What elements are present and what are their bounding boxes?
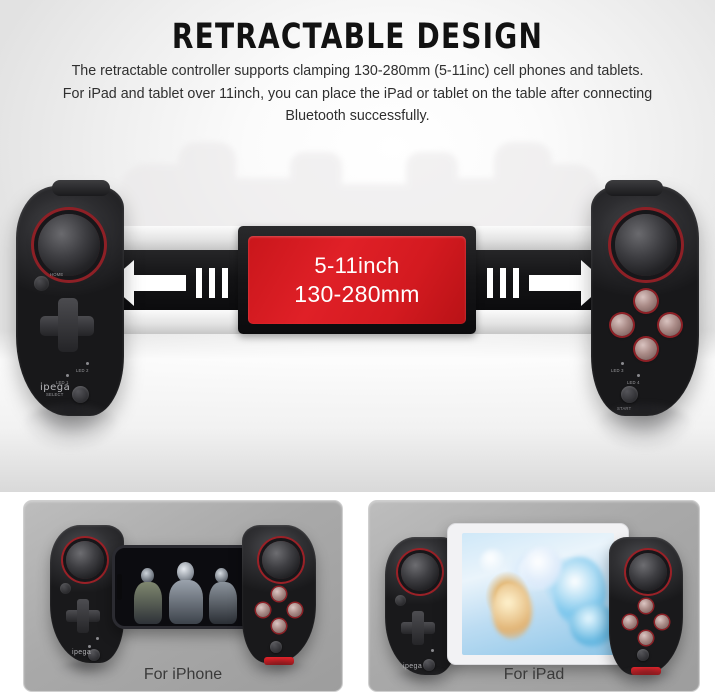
mini-led-dot-b [88,645,91,648]
arrow-left-dashes [196,268,228,298]
measurement-mm: 130-280mm [294,280,419,309]
mini-start-button-ipad [637,649,649,661]
start-button [621,386,638,403]
mini-right-stick-ipad [629,553,667,591]
led4-label: LED 4 [627,380,640,385]
subtitle-line-1: The retractable controller supports clam… [50,60,666,83]
mini-left-stick-ipad [401,553,439,591]
mini-action-buttons-ipad [621,599,671,647]
action-buttons [607,290,685,366]
mini-dpad [66,599,100,633]
led2-dot [86,362,89,365]
home-label: HOME [50,272,63,277]
dpad [40,298,94,352]
left-grip-reflection [22,404,118,450]
caption-for-ipad: For iPad [369,666,699,684]
iphone-device [112,545,258,629]
measurement-label: 5-11inch 130-280mm [248,236,466,324]
left-shoulder-button [52,180,110,196]
panel-for-ipad: ipega [368,500,700,692]
mini-right-grip-iphone [242,525,316,663]
controller-left-grip: HOME LED 2 LED 1 SELECT ipega [16,186,124,416]
right-grip-reflection [597,404,693,450]
caption-for-iphone: For iPhone [24,666,342,684]
subtitle-line-2: For iPad and tablet over 11inch, you can… [50,83,666,106]
mini-dpad-ipad [401,611,435,645]
home-button [34,276,49,291]
mini-brand-iphone: ipega [72,649,91,656]
page-subtitle: The retractable controller supports clam… [50,60,666,128]
mini-action-buttons [254,587,304,635]
mini-home-button-ipad [395,595,406,606]
mini-home-button [60,583,71,594]
right-analog-stick [615,214,677,276]
iphone-notch [117,574,122,600]
arrow-left-shaft [134,275,186,291]
mini-left-stick [66,541,104,579]
mini-led-dot-a-ipad [431,649,434,652]
page-title: RETRACTABLE DESIGN [72,18,644,56]
game-art-shooter [115,548,255,626]
select-button [72,386,89,403]
led1-dot [66,374,69,377]
arrow-right-shaft [529,275,581,291]
ipad-screen [462,533,614,655]
led3-dot [621,362,624,365]
mini-led-dot-a [96,637,99,640]
product-infographic: RETRACTABLE DESIGN The retractable contr… [0,0,715,699]
ipad-device [447,523,629,665]
brand-logo-left: ipega [40,382,70,393]
mini-right-grip-ipad [609,537,683,675]
right-shoulder-button [605,180,663,196]
led4-dot [637,374,640,377]
iphone-screen [115,548,255,626]
hero-section: RETRACTABLE DESIGN The retractable contr… [0,0,715,492]
subtitle-line-3: Bluetooth successfully. [50,105,666,128]
game-art-anime [462,533,614,655]
mini-start-button [270,641,282,653]
left-analog-stick [38,214,100,276]
usage-panels: ipega [0,497,715,699]
panel-for-iphone: ipega [23,500,343,692]
led2-label: LED 2 [76,368,89,373]
arrow-right-dashes [487,268,519,298]
led3-label: LED 3 [611,368,624,373]
controller-right-grip: LED 3 LED 4 START [591,186,699,416]
measurement-inches: 5-11inch [314,252,399,280]
mini-right-stick [262,541,300,579]
